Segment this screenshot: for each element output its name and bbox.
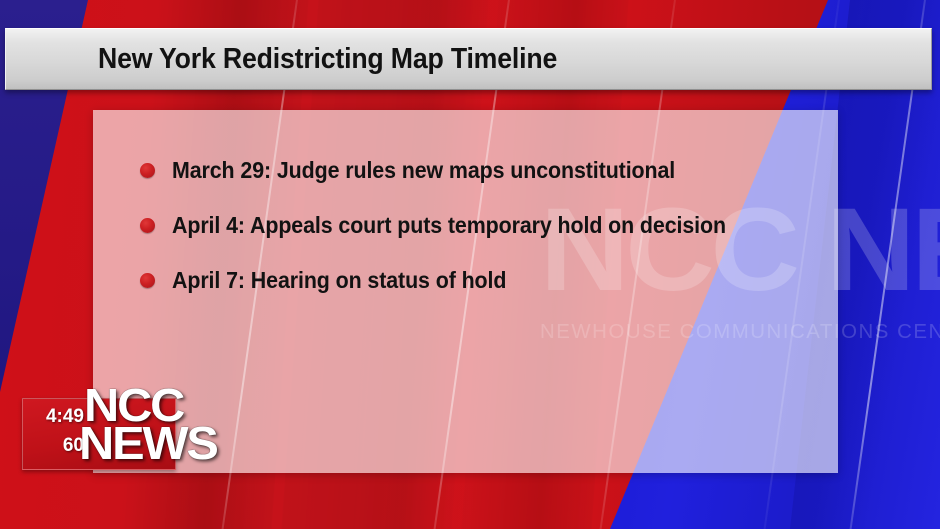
list-item: March 29: Judge rules new maps unconstit… — [140, 143, 828, 198]
list-item: April 7: Hearing on status of hold — [140, 253, 828, 308]
list-item-label: March 29: Judge rules new maps unconstit… — [172, 157, 675, 184]
logo-info-stack: 4:49 60 — [28, 402, 84, 460]
bullet-dot-icon — [140, 163, 155, 178]
station-logo-bug: 4:49 60 NCC NEWS — [22, 398, 180, 470]
timeline-list: March 29: Judge rules new maps unconstit… — [140, 143, 828, 308]
bullet-dot-icon — [140, 273, 155, 288]
broadcast-graphic: NCC NEWS NEWHOUSE COMMUNICATIONS CENTER … — [0, 0, 940, 529]
logo-line-news: NEWS — [79, 420, 217, 466]
bullet-dot-icon — [140, 218, 155, 233]
title-bar: New York Redistricting Map Timeline — [5, 28, 932, 90]
list-item: April 4: Appeals court puts temporary ho… — [140, 198, 828, 253]
list-item-label: April 4: Appeals court puts temporary ho… — [172, 212, 726, 239]
clock-readout: 4:49 — [28, 402, 84, 431]
temperature-readout: 60 — [28, 431, 84, 460]
page-title: New York Redistricting Map Timeline — [98, 43, 557, 76]
list-item-label: April 7: Hearing on status of hold — [172, 267, 506, 294]
